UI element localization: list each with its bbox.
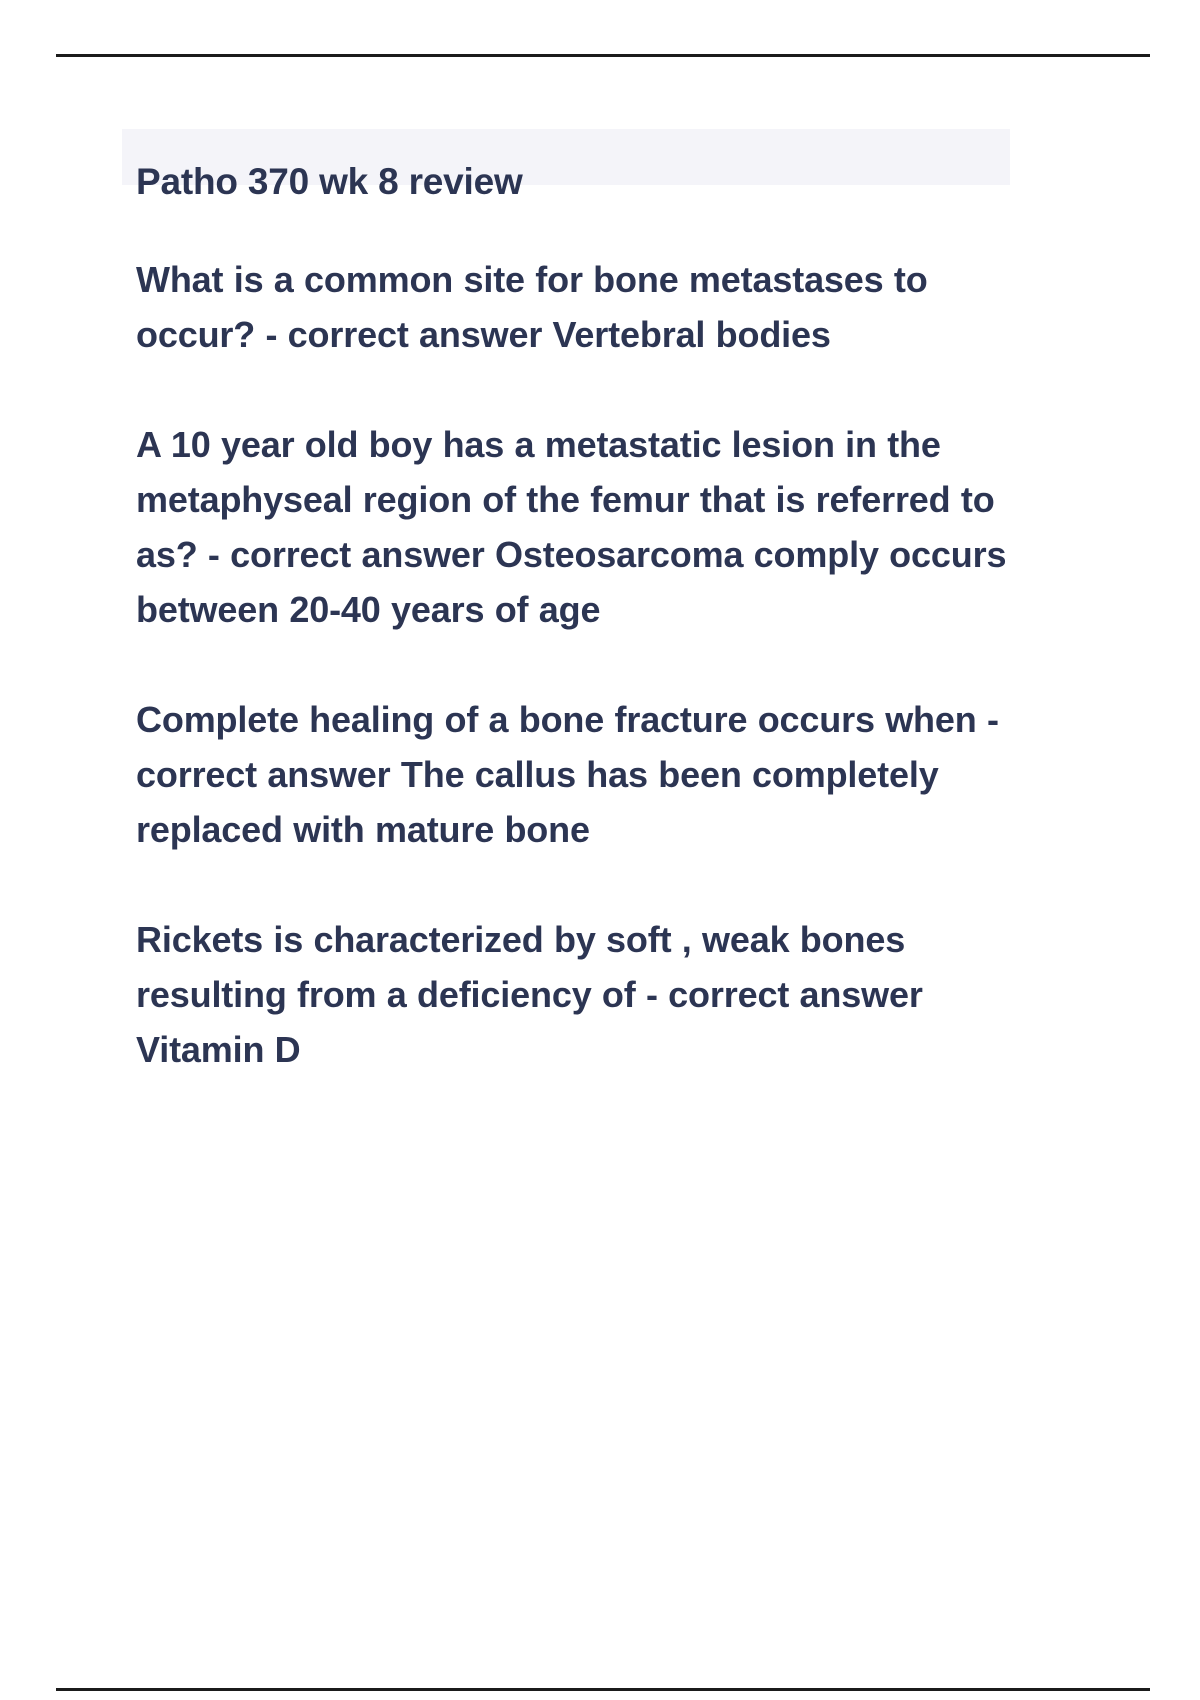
page-title: Patho 370 wk 8 review [136,156,996,208]
qa-block-osteosarcoma: A 10 year old boy has a metastatic lesio… [136,417,1036,637]
qa-block-fracture-healing: Complete healing of a bone fracture occu… [136,692,1036,857]
block-spacer [136,637,1036,692]
qa-block-rickets: Rickets is characterized by soft , weak … [136,912,1006,1077]
bottom-divider-rule [56,1688,1150,1691]
qa-block-list: What is a common site for bone metastase… [136,252,1036,1077]
block-spacer [136,362,1036,417]
block-spacer [136,857,1036,912]
document-page: Patho 370 wk 8 review What is a common s… [0,0,1200,1700]
qa-block-bone-metastases: What is a common site for bone metastase… [136,252,1006,362]
top-divider-rule [56,54,1150,57]
